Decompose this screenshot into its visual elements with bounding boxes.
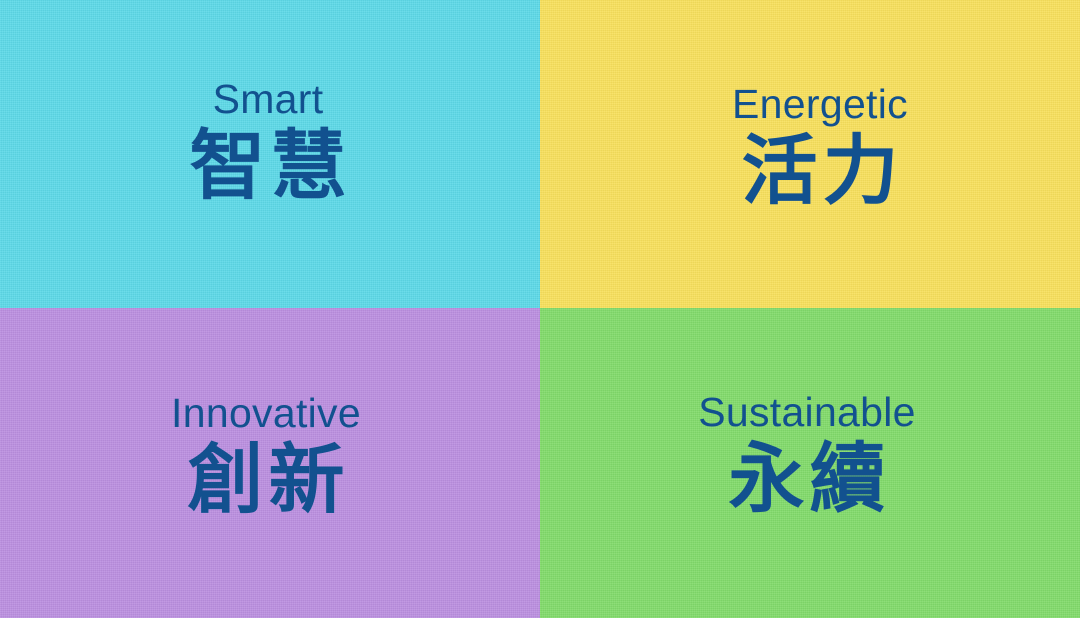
label-stack-smart: Smart 智慧 [185,79,352,205]
label-stack-energetic: Energetic 活力 [732,84,908,210]
quadrant-sustainable[interactable]: Sustainable 永續 [540,308,1080,618]
quadrant-energetic-chinese-label: 活力 [736,134,903,210]
label-stack-innovative: Innovative 創新 [171,393,361,519]
label-stack-sustainable: Sustainable 永續 [698,392,916,518]
quadrant-smart-english-label: Smart [213,79,324,120]
quadrant-innovative[interactable]: Innovative 創新 [0,308,540,618]
quadrant-energetic-english-label: Energetic [732,84,908,125]
quadrant-sustainable-english-label: Sustainable [698,392,916,433]
quadrant-sustainable-chinese-label: 永續 [723,442,890,518]
quadrant-innovative-english-label: Innovative [171,393,361,434]
quadrant-smart[interactable]: Smart 智慧 [0,0,540,308]
brand-values-grid: Smart 智慧 Energetic 活力 Innovative 創新 Sust… [0,0,1080,618]
quadrant-innovative-chinese-label: 創新 [183,443,350,519]
quadrant-smart-chinese-label: 智慧 [185,129,352,205]
quadrant-energetic[interactable]: Energetic 活力 [540,0,1080,308]
